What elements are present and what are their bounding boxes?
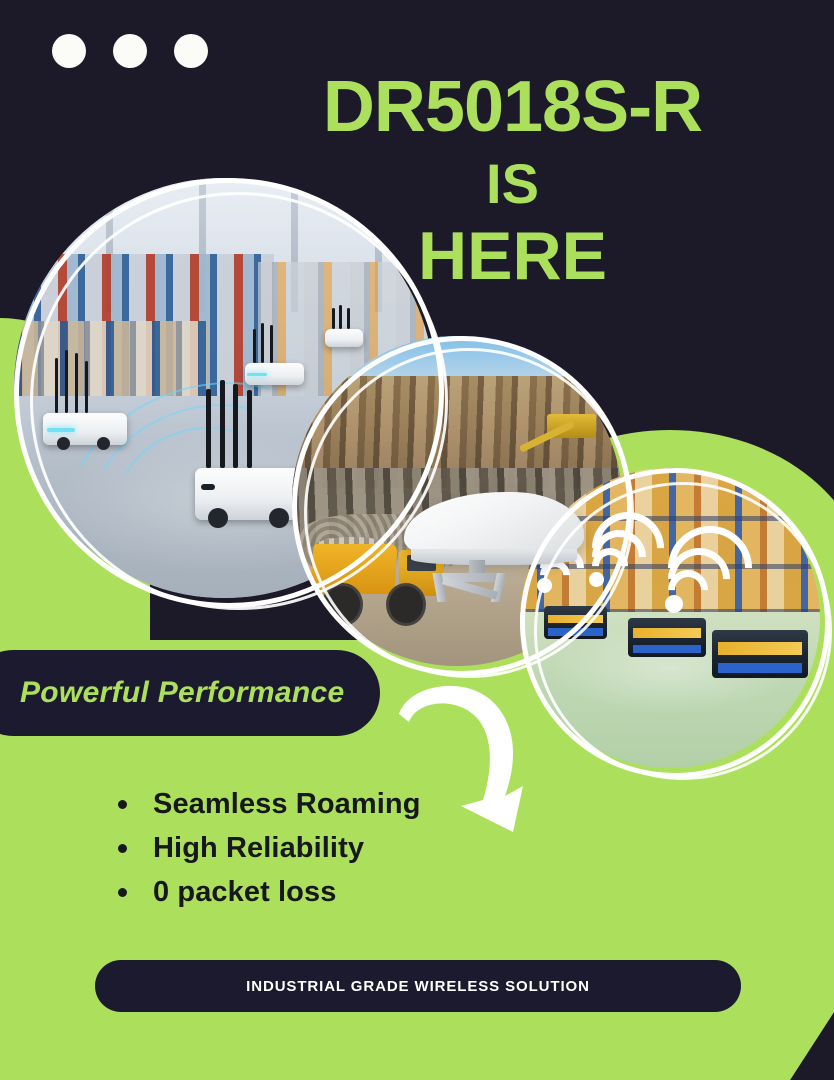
poster-canvas: DR5018S-R IS HERE (0, 0, 834, 1080)
agv-robot-foreground (195, 468, 308, 521)
access-point-mount-brace (429, 573, 533, 602)
title-line-1: DR5018S-R (260, 72, 765, 143)
agv-robot (43, 413, 127, 445)
agv-robot (628, 618, 706, 657)
header-dots (52, 34, 208, 68)
footer-banner: INDUSTRIAL GRADE WIRELESS SOLUTION (95, 960, 741, 1012)
agv-robot (712, 630, 808, 678)
feature-list: Seamless Roaming High Reliability 0 pack… (118, 788, 421, 920)
title-line-3: HERE (260, 223, 765, 290)
bullet-icon (118, 888, 127, 897)
wireless-access-point-device (404, 492, 584, 602)
list-item: 0 packet loss (118, 876, 421, 909)
status-badge-label: Powerful Performance (20, 676, 344, 710)
feature-label: 0 packet loss (153, 876, 336, 909)
feature-label: Seamless Roaming (153, 788, 421, 821)
wifi-icon-3 (668, 540, 738, 610)
list-item: Seamless Roaming (118, 788, 421, 821)
footer-banner-label: INDUSTRIAL GRADE WIRELESS SOLUTION (246, 978, 590, 995)
access-point-edge (411, 549, 577, 564)
wifi-icon-2 (592, 528, 648, 584)
status-badge: Powerful Performance (0, 650, 380, 736)
agv-robot (544, 606, 607, 639)
title-line-2: IS (260, 157, 765, 212)
dot-2 (113, 34, 147, 68)
page-title: DR5018S-R IS HERE (260, 72, 765, 290)
bullet-icon (118, 844, 127, 853)
feature-label: High Reliability (153, 832, 364, 865)
list-item: High Reliability (118, 832, 421, 865)
excavator (516, 399, 595, 439)
dot-3 (174, 34, 208, 68)
bullet-icon (118, 800, 127, 809)
dot-1 (52, 34, 86, 68)
